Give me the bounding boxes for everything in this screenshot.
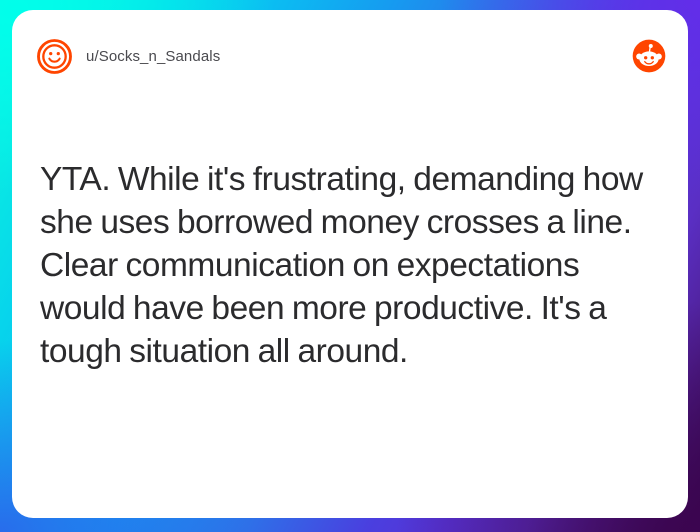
- post-header: u/Socks_n_Sandals: [12, 10, 688, 102]
- author-username: u/Socks_n_Sandals: [86, 48, 220, 65]
- post-body: YTA. While it's frustrating, demanding h…: [40, 158, 662, 373]
- smiley-face-avatar-icon[interactable]: [36, 38, 73, 75]
- post-author[interactable]: u/Socks_n_Sandals: [36, 38, 632, 75]
- reddit-snoo-logo-icon[interactable]: [632, 39, 666, 73]
- reddit-post-card: u/Socks_n_Sandals YTA. While it's: [12, 10, 688, 518]
- post-body-text: YTA. While it's frustrating, demanding h…: [40, 158, 662, 373]
- screenshot-stage: u/Socks_n_Sandals YTA. While it's: [0, 0, 700, 532]
